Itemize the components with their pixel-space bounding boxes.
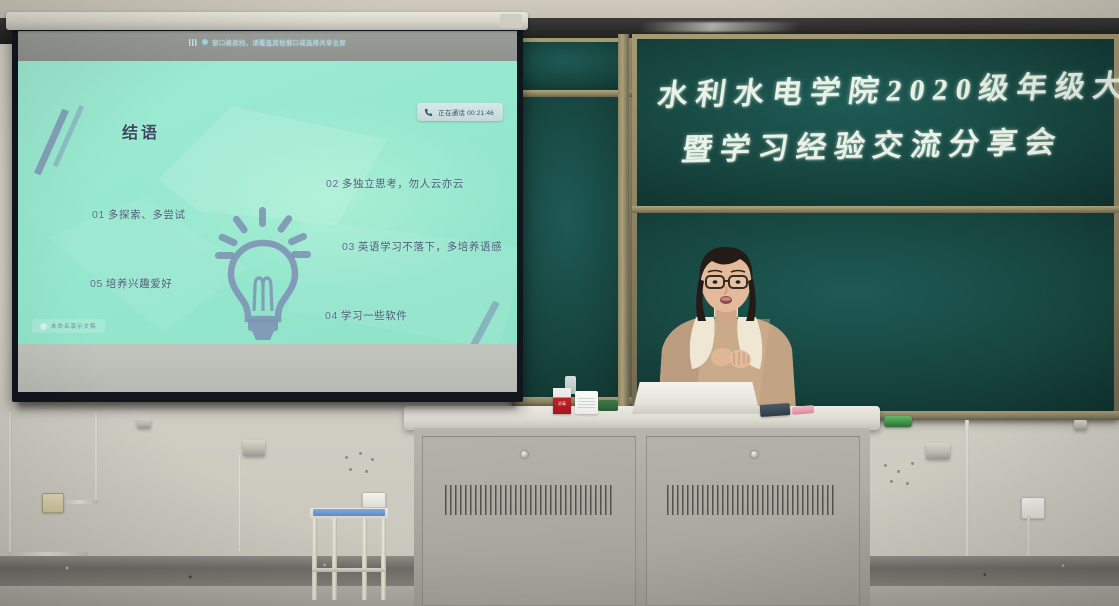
screen-mount-bracket xyxy=(137,418,151,428)
blackboard-main-upper: 水利水电学院2020级年级大会 暨学习经验交流分享会 xyxy=(637,39,1114,206)
stool-leg-3 xyxy=(362,518,367,600)
red-box-label: 消毒 xyxy=(554,400,570,407)
blackboard-line-1: 水利水电学院2020级年级大会 xyxy=(655,60,1119,115)
conduit-vertical-right xyxy=(965,420,969,556)
blackboard-center-lower xyxy=(516,97,628,397)
slide-content: 结语 xyxy=(18,61,517,344)
bullet-number-04: 04 xyxy=(325,310,338,322)
conduit-vertical-mid xyxy=(94,412,98,500)
lecture-hall-scene: 水利水电学院2020级年级大会 暨学习经验交流分享会 xyxy=(0,0,1119,606)
bullet-number-03: 03 xyxy=(342,241,355,253)
lectern-right-door[interactable] xyxy=(646,436,860,606)
wall-outlet-stool[interactable] xyxy=(362,492,386,508)
bullet-text-05: 培养兴趣爱好 xyxy=(106,278,173,290)
conduit-from-outlet-right xyxy=(1027,516,1030,556)
slide-bullet-01: 01多探索、多尝试 xyxy=(92,207,186,222)
signal-bars-icon xyxy=(189,39,198,46)
lectern-left-door[interactable] xyxy=(422,436,636,606)
blackboard-rail xyxy=(512,90,632,97)
beam-highlight xyxy=(638,22,802,32)
slide-bullet-05: 05培养兴趣爱好 xyxy=(90,276,173,291)
wall-bracket-right xyxy=(1074,420,1087,430)
bullet-number-05: 05 xyxy=(90,278,103,290)
stool-rail xyxy=(312,568,386,572)
share-notification-bar: 窗口被遮挡，请覆盖其他窗口或选择共享全屏 xyxy=(18,34,517,50)
conduit-from-box-left xyxy=(238,455,241,551)
board-eraser[interactable] xyxy=(884,416,912,427)
conduit-vertical-left xyxy=(8,412,12,554)
stool[interactable] xyxy=(310,508,388,600)
blackboard-center-upper xyxy=(516,42,628,90)
screen-letterbox-top: 窗口被遮挡，请覆盖其他窗口或选择共享全屏 xyxy=(18,31,517,61)
lectern-cabinet[interactable] xyxy=(404,406,880,606)
lectern-right-lock[interactable] xyxy=(751,451,758,458)
stool-leg-2 xyxy=(332,518,337,600)
slide-watermark: 未命名演示文稿 xyxy=(32,319,105,333)
wall-screw-marks-left xyxy=(345,452,379,476)
bullet-number-01: 01 xyxy=(92,209,105,221)
wall-outlet-right[interactable] xyxy=(1021,497,1045,519)
bullet-number-02: 02 xyxy=(326,178,339,190)
stool-seat-pad xyxy=(313,509,385,516)
screen-letterbox-bottom xyxy=(18,344,517,392)
bullet-text-02: 多独立思考，勿人云亦云 xyxy=(342,178,464,190)
watermark-dot-icon xyxy=(40,323,47,330)
bullet-text-01: 多探索、多尝试 xyxy=(108,209,186,221)
blackboard-line-2: 暨学习经验交流分享会 xyxy=(679,117,1066,169)
slide-bullet-04: 04学习一些软件 xyxy=(325,308,408,323)
lectern-body xyxy=(414,428,870,606)
stool-top xyxy=(310,508,388,519)
laptop[interactable] xyxy=(632,382,760,414)
blackboard-main-rail xyxy=(632,206,1119,213)
bullet-text-04: 学习一些软件 xyxy=(341,310,408,322)
tissue-pack[interactable] xyxy=(575,391,598,414)
stool-leg-1 xyxy=(312,518,317,600)
projector-screen-roller[interactable] xyxy=(6,12,528,30)
lectern-right-vents xyxy=(667,485,835,515)
record-dot-icon xyxy=(202,39,208,45)
projection-screen[interactable]: 窗口被遮挡，请覆盖其他窗口或选择共享全屏 结语 xyxy=(12,26,523,402)
wall-outlet-left[interactable] xyxy=(42,493,64,513)
conduit-branch xyxy=(60,500,98,504)
green-item[interactable] xyxy=(598,400,618,411)
blackboard-center xyxy=(512,38,632,416)
roller-end-cap xyxy=(500,14,522,28)
wall-junction-box-left[interactable] xyxy=(243,440,265,456)
slide-title: 结语 xyxy=(122,119,160,143)
lectern-left-vents xyxy=(445,485,613,515)
bullet-text-03: 英语学习不落下，多培养语感 xyxy=(358,241,502,253)
screen-surface: 窗口被遮挡，请覆盖其他窗口或选择共享全屏 结语 xyxy=(18,31,517,392)
lectern-left-lock[interactable] xyxy=(521,451,528,458)
phone-call-icon xyxy=(424,108,433,117)
smartphone[interactable] xyxy=(760,403,791,417)
watermark-text: 未命名演示文稿 xyxy=(51,322,97,330)
stool-leg-4 xyxy=(381,518,386,600)
call-status-widget[interactable]: 正在通话 00:21:46 xyxy=(417,103,503,121)
wall-junction-box-right[interactable] xyxy=(926,443,950,459)
lightbulb-icon xyxy=(214,207,312,344)
blackboard-divider-post xyxy=(618,34,629,420)
call-status-text: 正在通话 00:21:46 xyxy=(438,107,494,117)
share-notification-text: 窗口被遮挡，请覆盖其他窗口或选择共享全屏 xyxy=(212,37,346,47)
slide-bullet-02: 02多独立思考，勿人云亦云 xyxy=(326,176,464,191)
slide-bullet-03: 03英语学习不落下，多培养语感 xyxy=(342,239,502,254)
wall-screw-marks-right xyxy=(884,462,920,488)
red-label-box[interactable]: 消毒 xyxy=(553,388,571,414)
